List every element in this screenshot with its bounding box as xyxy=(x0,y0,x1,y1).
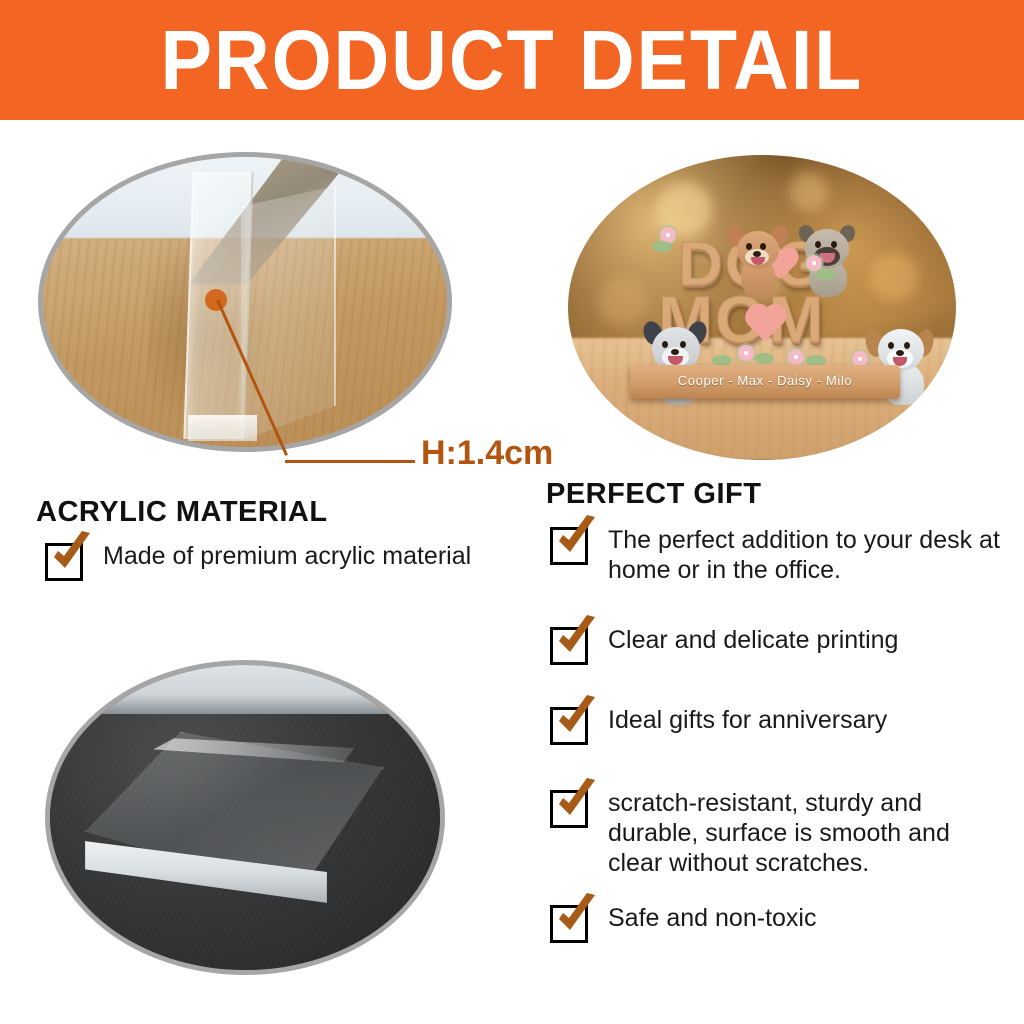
photo-backdrop xyxy=(50,665,440,714)
checkbox-checked-icon xyxy=(550,627,588,665)
checkmark-icon xyxy=(552,777,602,827)
feature-item: scratch-resistant, sturdy and durable, s… xyxy=(550,788,1010,878)
feature-label: The perfect addition to your desk at hom… xyxy=(608,525,1000,585)
checkbox-checked-icon xyxy=(45,543,83,581)
leaf-decoration-icon xyxy=(816,269,836,280)
checkmark-icon xyxy=(552,614,602,664)
personalized-names-text: Cooper - Max - Daisy - Milo xyxy=(630,373,900,388)
acrylic-block-base xyxy=(188,415,257,441)
feature-label: Clear and delicate printing xyxy=(608,625,898,655)
section-title-acrylic-material: ACRYLIC MATERIAL xyxy=(36,496,328,529)
dog-mom-sign: DOG MOM xyxy=(620,203,910,421)
feature-label: Ideal gifts for anniversary xyxy=(608,705,887,735)
flower-decoration-icon xyxy=(788,349,804,365)
dog-mom-product-photo: DOG MOM xyxy=(568,155,956,460)
feature-label: Made of premium acrylic material xyxy=(103,541,471,571)
checkmark-icon xyxy=(552,694,602,744)
leaf-decoration-icon xyxy=(652,241,672,252)
checkmark-icon xyxy=(47,530,97,580)
flower-decoration-icon xyxy=(738,345,754,361)
height-callout-label: H:1.4cm xyxy=(421,434,553,473)
dog-tan-puppy-icon xyxy=(729,225,789,295)
callout-leader-line-horizontal xyxy=(285,460,415,463)
acrylic-block-side-face xyxy=(241,186,336,441)
checkmark-icon xyxy=(552,892,602,942)
checkbox-checked-icon xyxy=(550,905,588,943)
acrylic-slab-photo xyxy=(45,660,445,975)
feature-item: The perfect addition to your desk at hom… xyxy=(550,525,1000,585)
leaf-decoration-icon xyxy=(754,353,774,364)
feature-label: Safe and non-toxic xyxy=(608,903,816,933)
header-banner: PRODUCT DETAIL xyxy=(0,0,1024,120)
feature-item: Ideal gifts for anniversary xyxy=(550,705,1000,745)
checkbox-checked-icon xyxy=(550,790,588,828)
feature-item: Clear and delicate printing xyxy=(550,625,1000,665)
flower-decoration-icon xyxy=(806,255,822,271)
feature-label: scratch-resistant, sturdy and durable, s… xyxy=(608,788,1010,878)
feature-item: Safe and non-toxic xyxy=(550,903,1000,943)
checkbox-checked-icon xyxy=(550,707,588,745)
checkmark-icon xyxy=(552,514,602,564)
acrylic-edge-photo xyxy=(38,152,452,452)
section-title-perfect-gift: PERFECT GIFT xyxy=(546,478,761,511)
page-title: PRODUCT DETAIL xyxy=(161,18,864,102)
checkbox-checked-icon xyxy=(550,527,588,565)
sign-wooden-base: Cooper - Max - Daisy - Milo xyxy=(630,365,900,399)
feature-item: Made of premium acrylic material xyxy=(45,541,515,581)
